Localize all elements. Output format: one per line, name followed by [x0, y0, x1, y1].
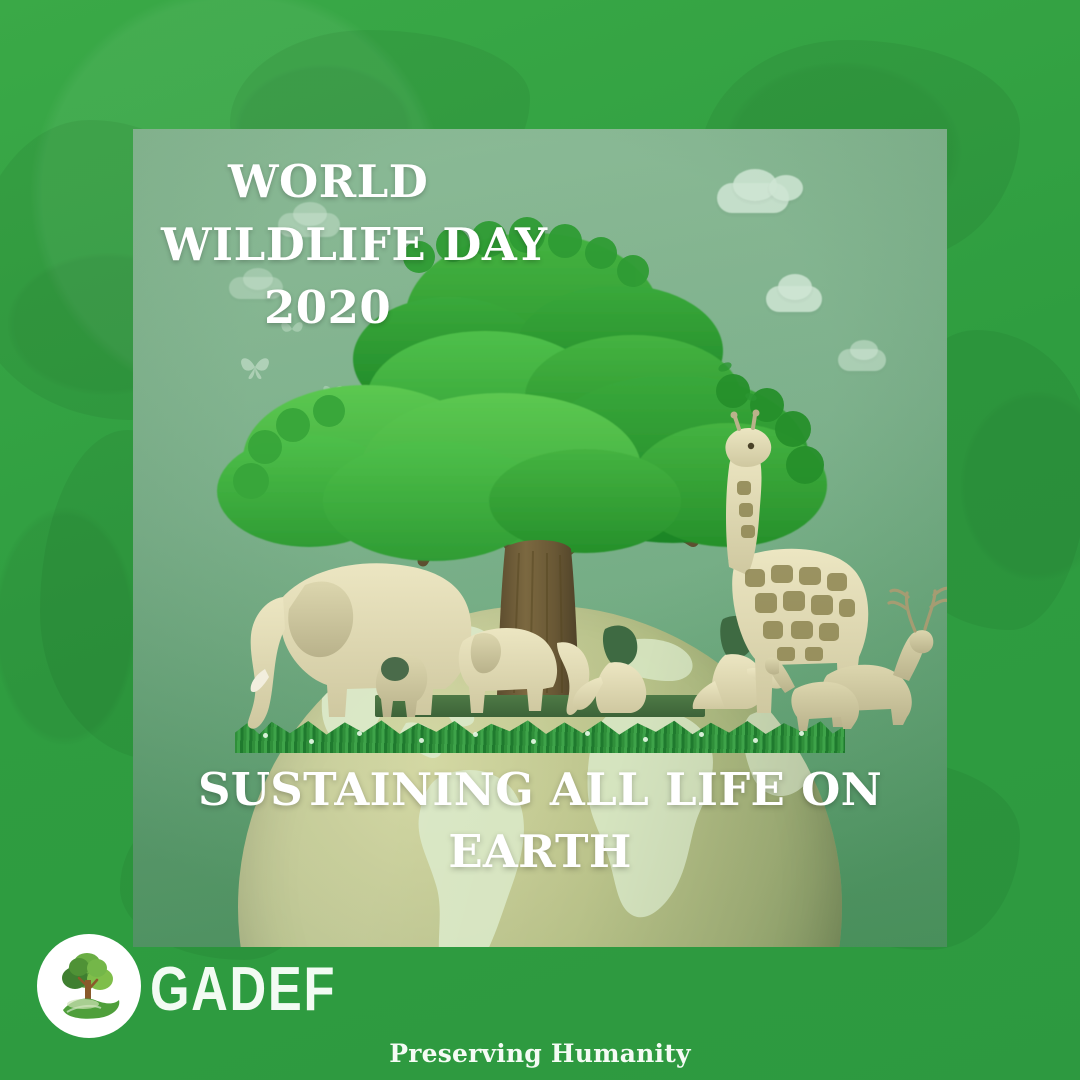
artwork-panel: WORLD WILDLIFE DAY 2020 SUSTAINING ALL L… [133, 129, 947, 947]
tagline-line-2: EARTH [133, 821, 947, 883]
gadef-logo [37, 934, 141, 1038]
brand-slogan: Preserving Humanity [0, 1039, 1080, 1068]
footer-bar: GADEF Preserving Humanity [0, 947, 1080, 1080]
headline-line-3: 2020 [264, 281, 391, 334]
elephant-calf [459, 628, 590, 715]
tagline: SUSTAINING ALL LIFE ON EARTH [133, 759, 947, 883]
elephant-adult [248, 563, 471, 728]
tree-in-hand-icon [37, 934, 141, 1038]
headline-line-2: WILDLIFE DAY [161, 218, 548, 271]
headline-line-1: WORLD [228, 155, 428, 208]
brand-name: GADEF [150, 954, 336, 1025]
poster-canvas: WORLD WILDLIFE DAY 2020 SUSTAINING ALL L… [0, 0, 1080, 1080]
tagline-line-1: SUSTAINING ALL LIFE ON [133, 759, 947, 821]
